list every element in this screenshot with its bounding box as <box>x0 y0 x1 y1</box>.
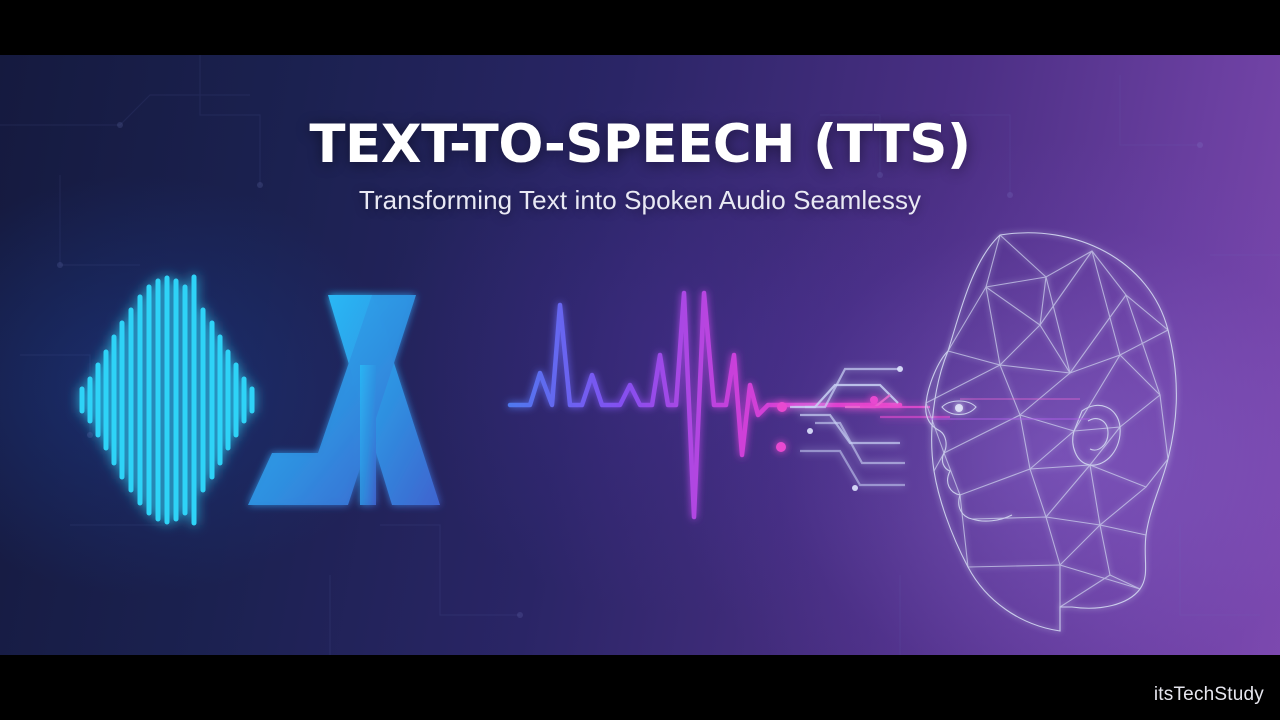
title-block: TEXT-TO-SPEECH (TTS) Transforming Text i… <box>0 117 1280 216</box>
watermark-label: itsTechStudy <box>1154 684 1264 706</box>
speech-pulse-line <box>510 293 900 517</box>
page-title: TEXT-TO-SPEECH (TTS) <box>0 117 1280 173</box>
audio-waveform-bars <box>82 277 252 523</box>
wireframe-head-profile <box>926 233 1177 631</box>
circuit-traces <box>790 369 950 485</box>
banner-artwork: TEXT-TO-SPEECH (TTS) Transforming Text i… <box>0 55 1280 655</box>
page-subtitle: Transforming Text into Spoken Audio Seam… <box>0 185 1280 216</box>
letterbox-top <box>0 0 1280 55</box>
letterbox-bottom <box>0 655 1280 720</box>
letter-a-logo <box>248 295 440 505</box>
banner-image: TEXT-TO-SPEECH (TTS) Transforming Text i… <box>0 0 1280 720</box>
